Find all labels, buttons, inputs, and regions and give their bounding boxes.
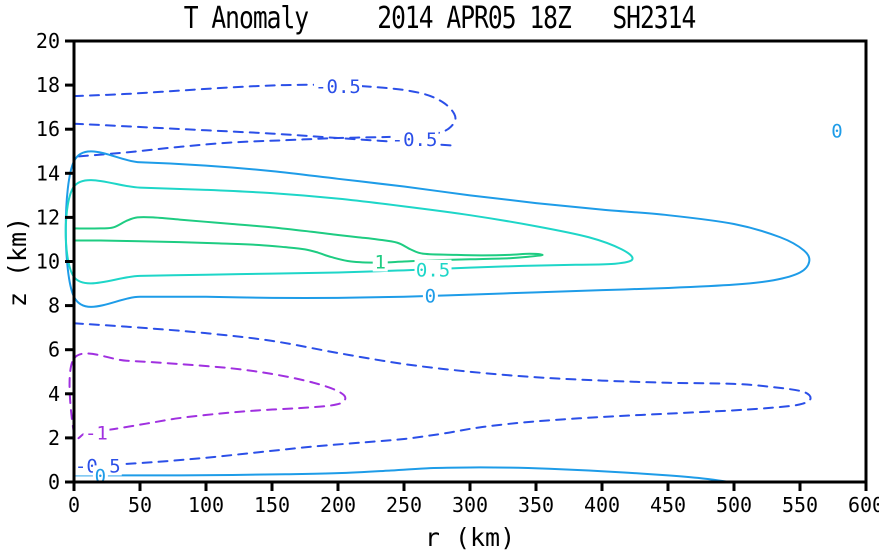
contour-label: -1 bbox=[85, 422, 108, 444]
contour-label: 0 bbox=[831, 120, 842, 142]
contour-line bbox=[66, 151, 810, 306]
contour-label: -0.5 bbox=[315, 76, 361, 98]
tick-labels-layer: 0501001502002503003504004505005506000246… bbox=[36, 29, 879, 517]
contour-line bbox=[74, 217, 543, 263]
contour-label: -0.5 bbox=[392, 129, 438, 151]
y-axis-tick-label: 8 bbox=[48, 294, 60, 318]
x-axis-tick-label: 50 bbox=[128, 493, 152, 517]
contour-line bbox=[66, 180, 633, 283]
contour-label: 1 bbox=[375, 252, 386, 274]
y-axis-tick-label: 6 bbox=[48, 338, 60, 362]
x-axis-tick-label: 0 bbox=[68, 493, 80, 517]
y-axis-tick-label: 14 bbox=[36, 161, 60, 185]
contour-line bbox=[70, 353, 346, 438]
y-axis-tick-label: 16 bbox=[36, 117, 60, 141]
contour-line bbox=[74, 323, 811, 466]
x-axis-tick-label: 550 bbox=[782, 493, 818, 517]
y-axis-title: z (km) bbox=[3, 217, 32, 307]
x-axis-tick-label: 600 bbox=[848, 493, 879, 517]
axes-layer bbox=[65, 41, 866, 491]
contour-label: 0 bbox=[425, 286, 436, 308]
contour-line bbox=[74, 467, 730, 482]
contour-label: 0.5 bbox=[416, 260, 450, 282]
y-axis-tick-label: 12 bbox=[36, 205, 60, 229]
contour-label: 0 bbox=[95, 465, 106, 487]
contour-labels-layer: -0.5-0.5010.50-1-0.50 bbox=[74, 76, 845, 487]
x-axis-tick-label: 450 bbox=[650, 493, 686, 517]
y-axis-tick-label: 4 bbox=[48, 382, 60, 406]
plot-canvas: -0.5-0.5010.50-1-0.50 050100150200250300… bbox=[0, 0, 879, 559]
x-axis-title: r (km) bbox=[425, 523, 515, 552]
x-axis-tick-label: 300 bbox=[452, 493, 488, 517]
y-axis-tick-label: 2 bbox=[48, 426, 60, 450]
contour-layer bbox=[66, 41, 879, 482]
x-axis-tick-label: 200 bbox=[320, 493, 356, 517]
y-axis-tick-label: 18 bbox=[36, 73, 60, 97]
x-axis-tick-label: 150 bbox=[254, 493, 290, 517]
x-axis-tick-label: 100 bbox=[188, 493, 224, 517]
contour-figure: T Anomaly 2014 APR05 18Z SH2314 -0.5-0.5… bbox=[0, 0, 879, 559]
page-title: T Anomaly 2014 APR05 18Z SH2314 bbox=[79, 0, 800, 38]
x-axis-tick-label: 500 bbox=[716, 493, 752, 517]
y-axis-tick-label: 20 bbox=[36, 29, 60, 53]
x-axis-tick-label: 350 bbox=[518, 493, 554, 517]
y-axis-tick-label: 10 bbox=[36, 250, 60, 274]
y-axis-tick-label: 0 bbox=[48, 470, 60, 494]
x-axis-tick-label: 250 bbox=[386, 493, 422, 517]
x-axis-tick-label: 400 bbox=[584, 493, 620, 517]
